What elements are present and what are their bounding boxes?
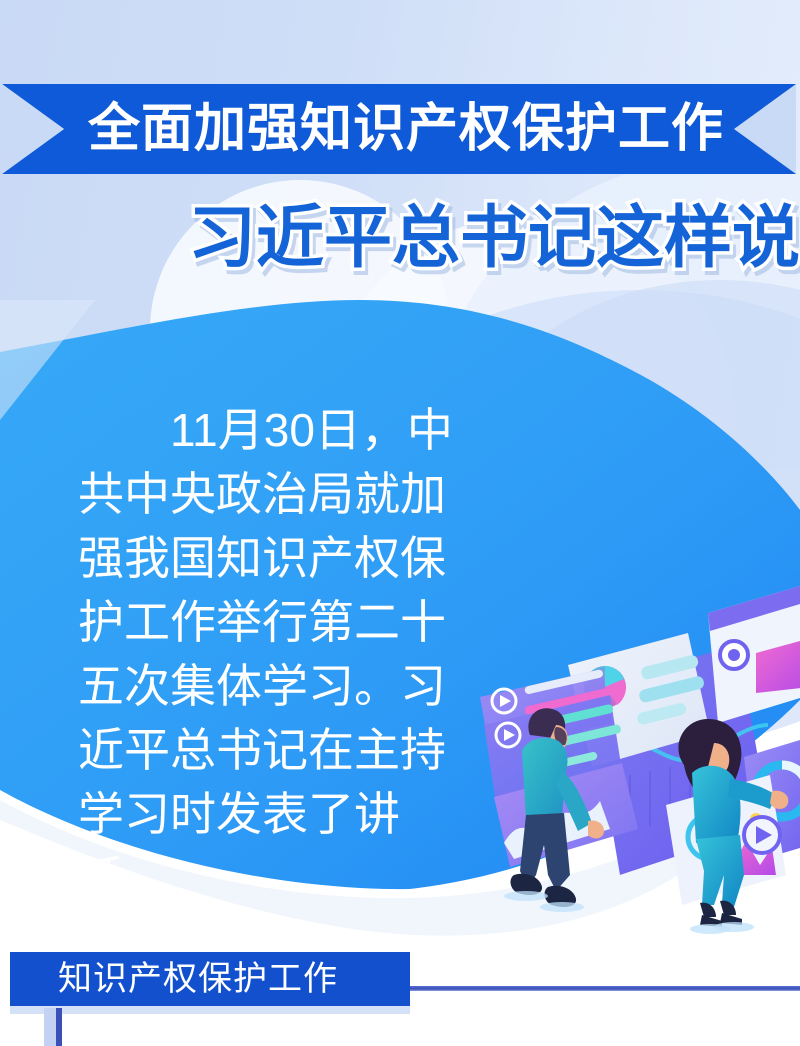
footer-stem: [56, 1008, 62, 1046]
play-badge-icon: [744, 817, 780, 853]
folder-card: [708, 583, 800, 723]
footer-tag-label: 知识产权保护工作: [58, 962, 338, 996]
illustration-data-dashboard: [470, 575, 800, 965]
ribbon-title: 全面加强知识产权保护工作: [2, 82, 796, 176]
body-paragraph: 11月30日，中共中央政治局就加强我国知识产权保护工作举行第二十五次集体学习。习…: [78, 398, 468, 910]
footer-rule: [410, 986, 800, 991]
title-ribbon: 全面加强知识产权保护工作: [2, 82, 796, 176]
footer-stem-shadow: [44, 1008, 56, 1046]
poster-root: 全面加强知识产权保护工作 习近平总书记这样说 11月30日，中共中央政治局就加强…: [0, 0, 800, 1046]
footer-tag[interactable]: 知识产权保护工作: [10, 952, 410, 1006]
poster-subtitle: 习近平总书记这样说: [0, 196, 800, 280]
